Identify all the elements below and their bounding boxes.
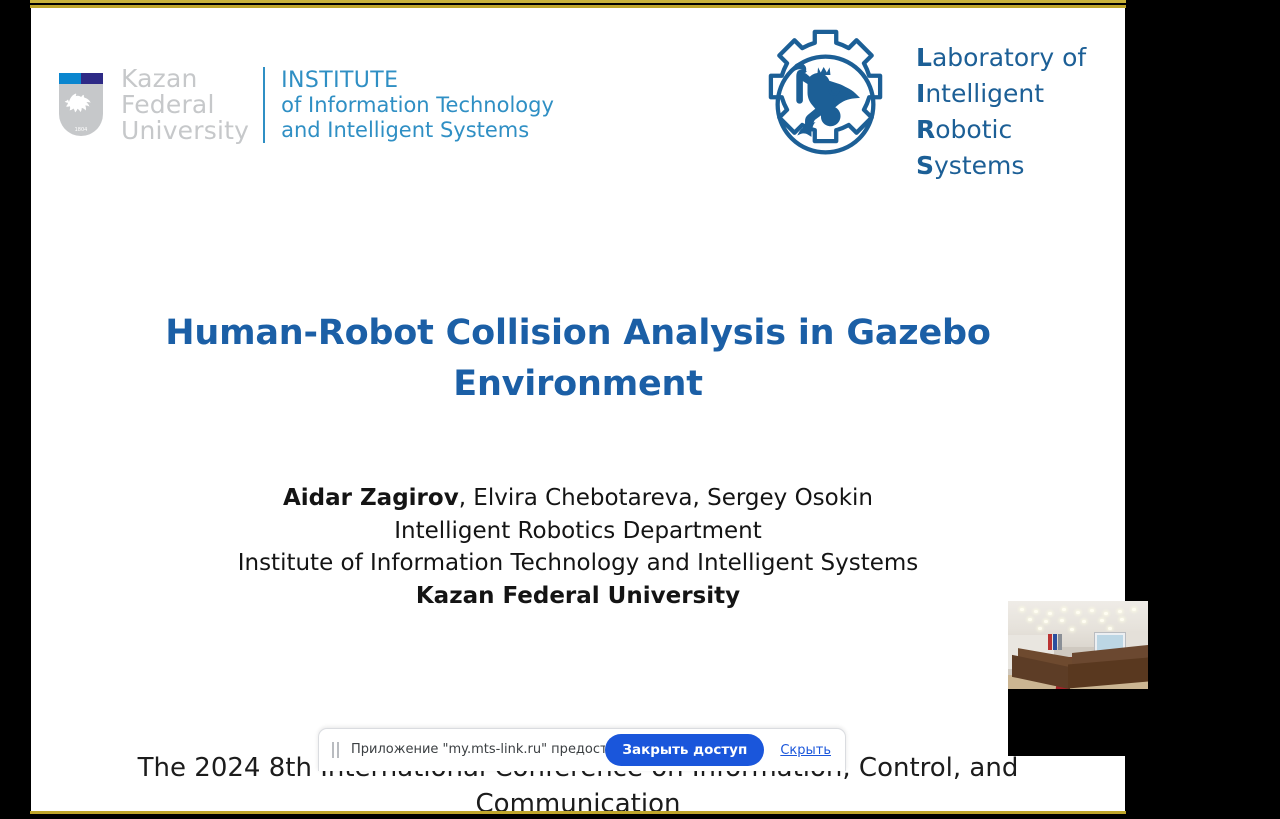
- lirs-line-3: Robotic: [916, 112, 1086, 148]
- slide-header-logos: 1804 Kazan Federal University INSTITUTE …: [31, 8, 1125, 198]
- slide-authors-block: Aidar Zagirov, Elvira Chebotareva, Serge…: [91, 482, 1065, 612]
- window-frame-top-line: [30, 5, 1126, 8]
- slide-title-line-2: Environment: [91, 359, 1065, 410]
- lirs-line-1: Laboratory of: [916, 40, 1086, 76]
- drag-handle-icon[interactable]: [331, 742, 341, 758]
- kazan-federal-university-logo: 1804 Kazan Federal University INSTITUTE …: [53, 66, 554, 144]
- slide-title-line-1: Human-Robot Collision Analysis in Gazebo: [91, 308, 1065, 359]
- lirs-wordmark: Laboratory of Intelligent Robotic System…: [916, 40, 1086, 184]
- kfu-bar-navy: [81, 73, 103, 84]
- authors-university: Kazan Federal University: [91, 580, 1065, 613]
- institute-line-2: of Information Technology: [281, 93, 554, 118]
- kfu-name-line-3: University: [121, 118, 249, 144]
- stop-sharing-button[interactable]: Закрыть доступ: [605, 734, 764, 766]
- lirs-initial-i: I: [916, 79, 925, 108]
- kfu-shield-icon: 1804: [53, 70, 109, 140]
- kfu-zilant-dragon-icon: 1804: [59, 84, 103, 136]
- kfu-name-line-1: Kazan: [121, 66, 249, 92]
- kfu-bar-blue: [59, 73, 81, 84]
- kfu-shield-bar: [59, 73, 103, 84]
- authors-line: Aidar Zagirov, Elvira Chebotareva, Serge…: [91, 482, 1065, 515]
- ceiling-lights: [1008, 604, 1148, 630]
- hall-flags: [1048, 634, 1064, 650]
- lirs-gear-dragon-icon: [743, 22, 908, 187]
- lirs-line-4: Systems: [916, 148, 1086, 184]
- svg-text:1804: 1804: [75, 127, 88, 133]
- authors-department: Intelligent Robotics Department: [91, 515, 1065, 548]
- webcam-pip-preview[interactable]: [1008, 601, 1148, 756]
- lirs-rest-2: ntelligent: [925, 79, 1044, 108]
- institute-line-1: INSTITUTE: [281, 68, 554, 93]
- other-authors: , Elvira Chebotareva, Sergey Osokin: [459, 485, 873, 511]
- window-frame-top-accent: [30, 0, 1126, 3]
- shared-screen-capture: 1804 Kazan Federal University INSTITUTE …: [0, 0, 1280, 819]
- slide-title: Human-Robot Collision Analysis in Gazebo…: [91, 308, 1065, 410]
- logo-divider: [263, 67, 265, 143]
- hide-notification-link[interactable]: Скрыть: [780, 743, 831, 758]
- kfu-name: Kazan Federal University: [121, 66, 249, 144]
- lirs-rest-4: ystems: [934, 151, 1024, 180]
- lirs-line-2: Intelligent: [916, 76, 1086, 112]
- pip-empty-area: [1008, 689, 1148, 756]
- screen-share-notification-bar: Приложение "my.mts-link.ru" предоставило…: [318, 728, 846, 771]
- institute-name: INSTITUTE of Information Technology and …: [281, 68, 554, 143]
- lirs-rest-3: obotic: [935, 115, 1012, 144]
- kfu-name-line-2: Federal: [121, 92, 249, 118]
- lirs-rest-1: aboratory of: [932, 43, 1086, 72]
- window-frame-bottom-line: [30, 811, 1126, 814]
- lirs-initial-r: R: [916, 115, 935, 144]
- authors-institute: Institute of Information Technology and …: [91, 547, 1065, 580]
- presentation-slide: 1804 Kazan Federal University INSTITUTE …: [31, 8, 1125, 811]
- lirs-initial-l: L: [916, 43, 932, 72]
- lirs-initial-s: S: [916, 151, 934, 180]
- lirs-logo: Laboratory of Intelligent Robotic System…: [743, 22, 1086, 187]
- highlighted-author: Aidar Zagirov: [283, 485, 459, 511]
- institute-line-3: and Intelligent Systems: [281, 118, 554, 143]
- conference-hall-video: [1008, 601, 1148, 689]
- share-notification-message: Приложение "my.mts-link.ru" предоставило…: [351, 742, 605, 758]
